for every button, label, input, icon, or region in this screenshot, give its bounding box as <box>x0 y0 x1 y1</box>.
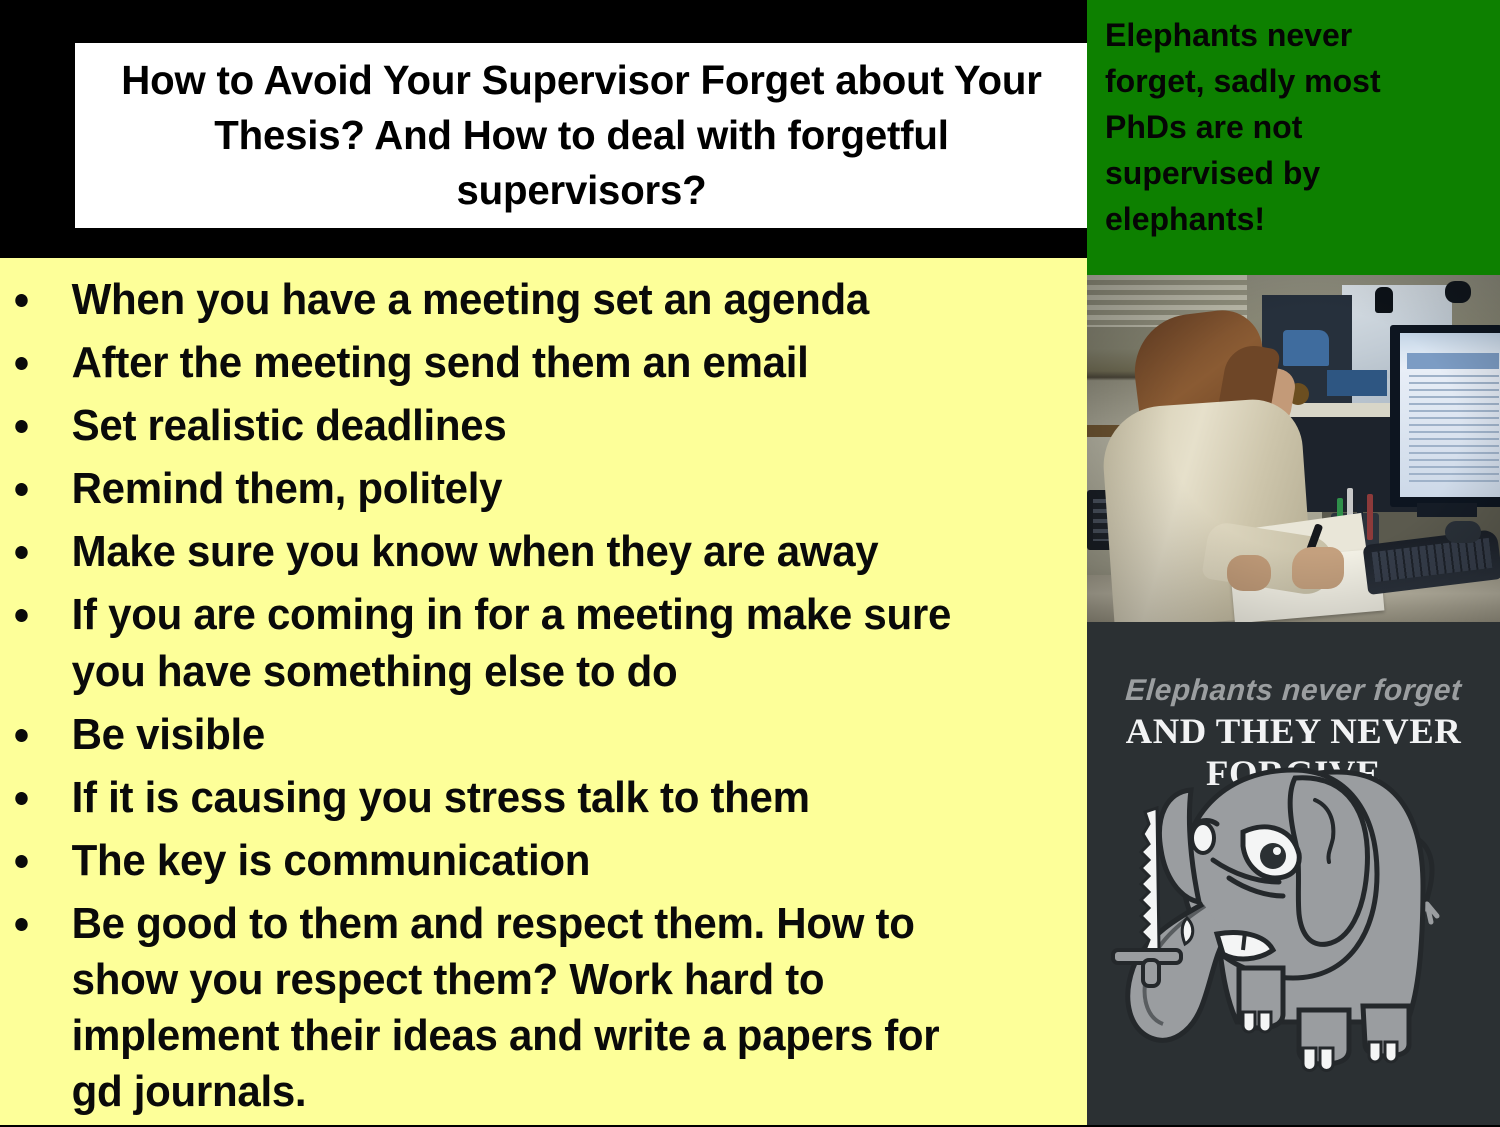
list-item-label: If it is causing you stress talk to them <box>72 773 810 822</box>
list-item: Be visible <box>0 707 1039 770</box>
photo-vignette <box>1087 275 1500 622</box>
bullet-dot-icon <box>15 729 27 742</box>
knife-handle-icon <box>1143 960 1159 986</box>
bullet-dot-icon <box>15 918 27 931</box>
list-item-label: After the meeting send them an email <box>72 338 809 387</box>
list-item: The key is communication <box>0 833 1039 896</box>
page-title: How to Avoid Your Supervisor Forget abou… <box>85 53 1078 218</box>
sidebar-column: Elephants never forget, sadly most PhDs … <box>1087 0 1500 1125</box>
list-item: Make sure you know when they are away <box>0 524 1039 587</box>
green-note-box: Elephants never forget, sadly most PhDs … <box>1087 0 1500 275</box>
list-item: If you are coming in for a meeting make … <box>0 587 1039 706</box>
cartoon-elephant-holding-knife <box>1087 754 1500 1109</box>
title-box: How to Avoid Your Supervisor Forget abou… <box>75 43 1088 228</box>
list-item: After the meeting send them an email <box>0 335 1039 398</box>
slide-canvas: How to Avoid Your Supervisor Forget abou… <box>0 0 1500 1125</box>
list-item-label: Set realistic deadlines <box>72 401 507 450</box>
woman-writing-at-desk-photo <box>1087 275 1500 622</box>
list-item-label: If you are coming in for a meeting make … <box>72 590 951 695</box>
green-note-text: Elephants never forget, sadly most PhDs … <box>1105 12 1435 242</box>
list-item-label: Be good to them and respect them. How to… <box>72 899 940 1116</box>
list-item-label: Remind them, politely <box>72 464 503 513</box>
content-panel: When you have a meeting set an agenda Af… <box>0 258 1088 1125</box>
bullet-dot-icon <box>15 420 27 433</box>
bullet-dot-icon <box>15 357 27 370</box>
list-item-label: When you have a meeting set an agenda <box>72 275 869 324</box>
list-item: Set realistic deadlines <box>0 398 1039 461</box>
advice-bullet-list: When you have a meeting set an agenda Af… <box>0 272 1088 1127</box>
knife-blade-icon <box>1141 808 1159 950</box>
list-item-label: Be visible <box>72 710 265 759</box>
list-item: If it is causing you stress talk to them <box>0 770 1039 833</box>
list-item-label: The key is communication <box>72 836 591 885</box>
bullet-dot-icon <box>15 792 27 805</box>
elephant-meme-panel: Elephants never forget AND THEY NEVER FO… <box>1087 622 1500 1125</box>
meme-caption-top: Elephants never forget <box>1087 674 1500 708</box>
bullet-dot-icon <box>15 294 27 307</box>
bullet-dot-icon <box>15 609 27 622</box>
list-item: Remind them, politely <box>0 461 1039 524</box>
list-item-label: Make sure you know when they are away <box>72 527 879 576</box>
list-item: When you have a meeting set an agenda <box>0 272 1039 335</box>
elephant-icon <box>1087 754 1500 1109</box>
bullet-dot-icon <box>15 855 27 868</box>
bullet-dot-icon <box>15 483 27 496</box>
bullet-dot-icon <box>15 546 27 559</box>
list-item: Be good to them and respect them. How to… <box>0 896 1039 1127</box>
